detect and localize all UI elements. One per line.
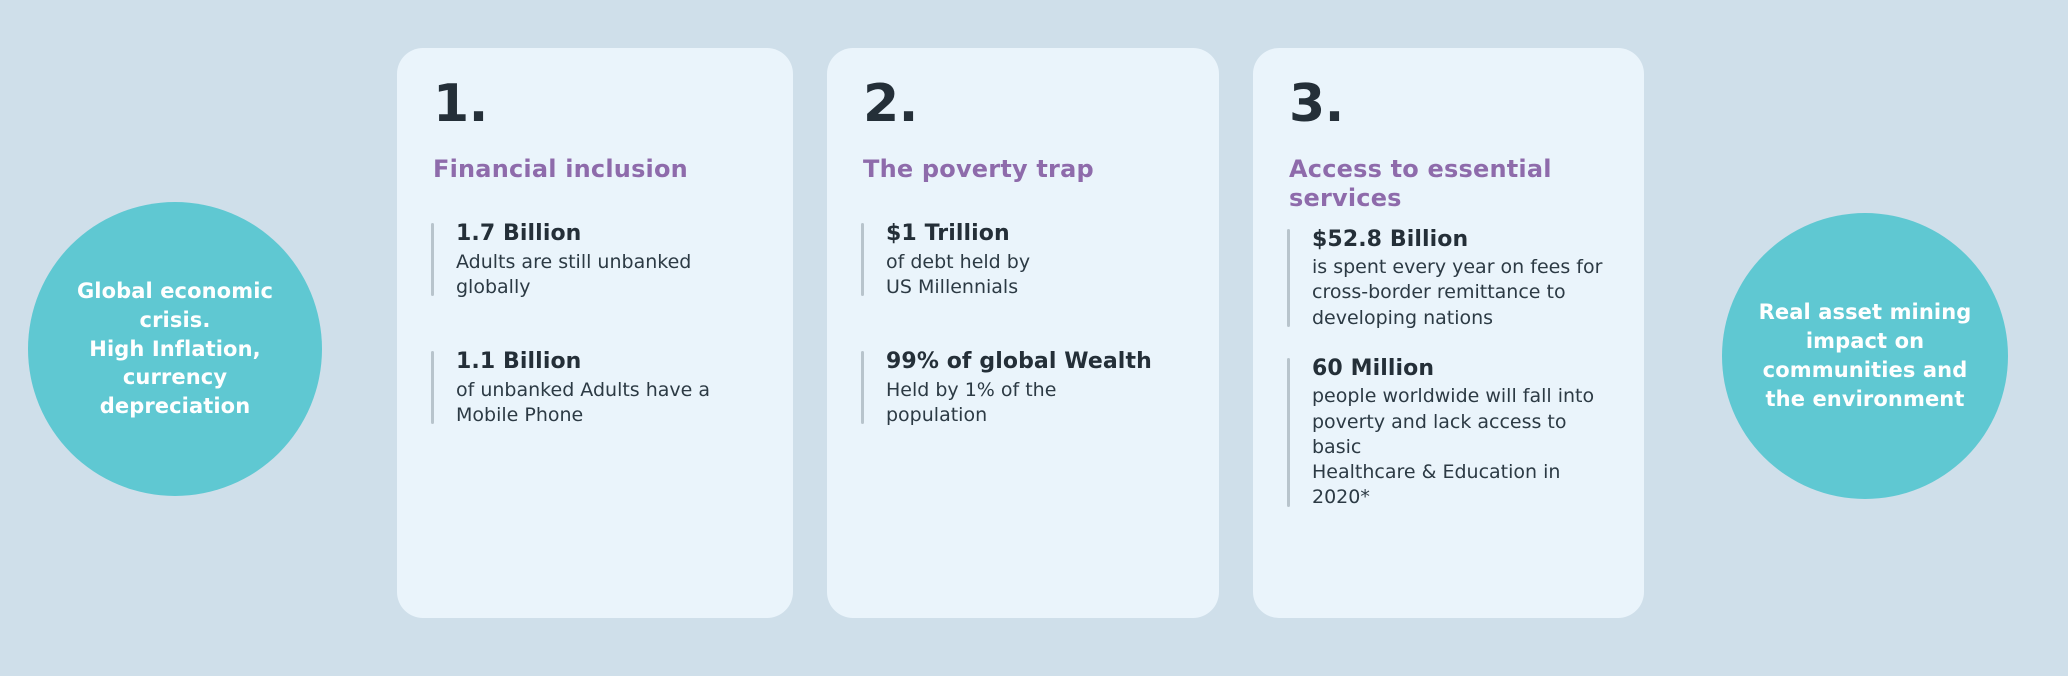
left-circle-text: Global economic crisis. High Inflation, … [68,277,283,422]
stat-item: 60 Million people worldwide will fall in… [1287,355,1610,511]
card-poverty-trap[interactable]: 2. The poverty trap $1 Trillion of debt … [827,48,1219,618]
stat-list: $1 Trillion of debt held by US Millennia… [861,220,1185,428]
stat-list: 1.7 Billion Adults are still unbanked gl… [431,220,759,428]
stat-value: 99% of global Wealth [886,348,1185,376]
card-financial-inclusion[interactable]: 1. Financial inclusion 1.7 Billion Adult… [397,48,793,618]
card-title: Access to essential services [1289,155,1610,214]
card-number: 2. [863,78,1185,130]
card-number: 3. [1289,78,1610,130]
stat-description: is spent every year on fees for cross-bo… [1312,255,1610,331]
stat-description: people worldwide will fall into poverty … [1312,384,1610,510]
stat-item: $52.8 Billion is spent every year on fee… [1287,226,1610,331]
left-context-circle: Global economic crisis. High Inflation, … [28,202,322,496]
card-number: 1. [433,78,759,130]
stat-value: 1.7 Billion [456,220,759,248]
stat-accent-bar [431,223,434,296]
stat-description: of debt held by US Millennials [886,250,1185,301]
card-title: The poverty trap [863,155,1185,184]
stat-accent-bar [861,351,864,424]
stat-accent-bar [1287,229,1290,327]
stat-accent-bar [1287,358,1290,507]
stat-value: $52.8 Billion [1312,226,1610,254]
stat-description: of unbanked Adults have a Mobile Phone [456,378,759,429]
stat-item: 99% of global Wealth Held by 1% of the p… [861,348,1185,428]
stat-item: 1.1 Billion of unbanked Adults have a Mo… [431,348,759,428]
stat-list: $52.8 Billion is spent every year on fee… [1287,226,1610,511]
stat-item: 1.7 Billion Adults are still unbanked gl… [431,220,759,300]
card-title: Financial inclusion [433,155,759,184]
stat-description: Held by 1% of the population [886,378,1185,429]
right-circle-text: Real asset mining impact on communities … [1741,298,1989,414]
stat-value: 1.1 Billion [456,348,759,376]
card-access-essential-services[interactable]: 3. Access to essential services $52.8 Bi… [1253,48,1644,618]
stat-item: $1 Trillion of debt held by US Millennia… [861,220,1185,300]
stat-value: 60 Million [1312,355,1610,383]
stat-value: $1 Trillion [886,220,1185,248]
right-context-circle: Real asset mining impact on communities … [1722,213,2008,499]
stat-accent-bar [861,223,864,296]
stat-description: Adults are still unbanked globally [456,250,759,301]
infographic-canvas: Global economic crisis. High Inflation, … [0,0,2068,676]
stat-accent-bar [431,351,434,424]
